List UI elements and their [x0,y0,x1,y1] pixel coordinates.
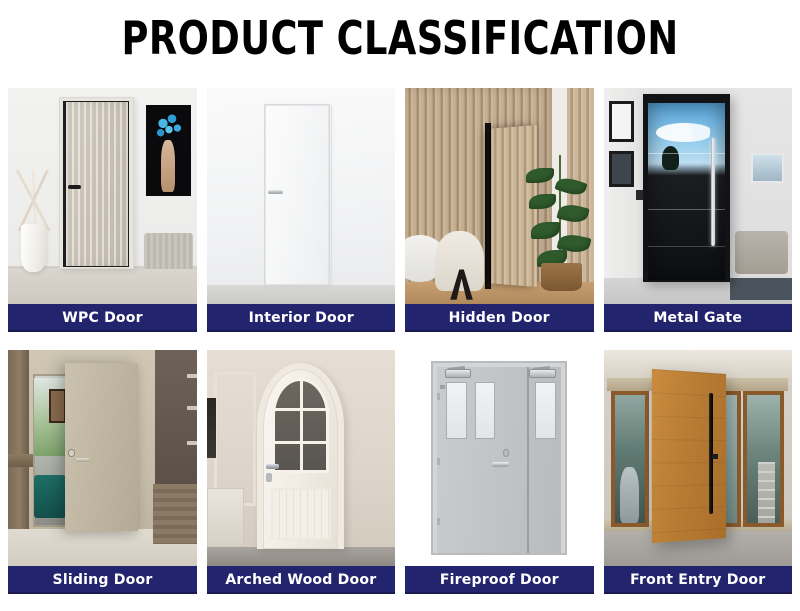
category-image-hidden-door [405,88,594,304]
area-rug [730,278,792,300]
shelf [187,406,196,410]
plant-basket [541,263,582,291]
category-label-text: Sliding Door [52,572,152,588]
category-label-arched-wood-door[interactable]: Arched Wood Door [207,566,396,594]
white-vase [21,224,46,272]
category-card-sliding-door[interactable]: Sliding Door [8,350,197,594]
person-silhouette [620,467,639,523]
category-image-interior-door [207,88,396,304]
tree-reflection [662,146,679,170]
vanity-cabinet [207,488,245,546]
floor [207,285,396,304]
framed-art-top-left [609,101,634,142]
category-image-arched-wood-door [207,350,396,566]
category-label-text: Arched Wood Door [225,572,376,588]
shelf [187,374,196,378]
mirror [207,398,216,458]
category-label-text: Metal Gate [653,310,742,326]
framed-art-right [751,153,785,183]
vision-panel [446,382,467,438]
category-image-sliding-door [8,350,197,566]
door-handle [68,185,81,188]
door-handle [266,464,279,469]
door-closer [529,369,555,378]
category-label-fireproof-door[interactable]: Fireproof Door [405,566,594,594]
sky-reflection-cloud [656,123,713,142]
bench [144,233,193,270]
category-label-text: Interior Door [248,310,353,326]
category-label-text: Front Entry Door [630,572,765,588]
category-label-text: Hidden Door [449,310,550,326]
interior-door-leaf [265,105,329,284]
category-label-metal-gate[interactable]: Metal Gate [604,304,793,332]
floor [8,269,197,304]
category-card-front-entry-door[interactable]: Front Entry Door [604,350,793,594]
category-label-text: WPC Door [62,310,143,326]
hinge [437,518,440,525]
beadboard-panel [271,488,331,540]
shelving-unit [155,350,196,484]
chrome-pull-handle [711,138,716,246]
window-mullion-vertical [300,378,303,473]
category-image-front-entry-door [604,350,793,566]
hinge [437,393,440,400]
art-flowers [154,111,184,142]
window-mullion-horizontal [272,408,329,411]
teal-sofa [34,475,66,518]
art-figure [161,140,175,193]
sliding-door-leaf [65,363,139,531]
sofa [735,231,788,274]
wall-art-panel [146,105,191,196]
vision-panel [475,382,496,438]
door-escutcheon [266,473,272,482]
product-category-grid: WPC Door Interior Door [8,88,792,594]
category-card-arched-wood-door[interactable]: Arched Wood Door [207,350,396,594]
category-label-sliding-door[interactable]: Sliding Door [8,566,197,594]
window-mullion-horizontal [272,441,329,444]
door-pull [76,458,89,462]
cylinder-lock [503,449,509,456]
vision-panel [535,382,556,438]
wood-cabinet [153,484,196,544]
page-title: PRODUCT CLASSIFICATION [80,12,720,64]
dried-branches [16,170,54,230]
lever-handle [492,462,509,467]
category-label-interior-door[interactable]: Interior Door [207,304,396,332]
hidden-door-gap [485,123,491,289]
door-lock [712,454,718,460]
category-image-metal-gate [604,88,793,304]
wpc-door-leaf [66,102,128,266]
category-image-fireproof-door [405,350,594,566]
category-label-front-entry-door[interactable]: Front Entry Door [604,566,793,594]
product-classification-page: PRODUCT CLASSIFICATION WPC [0,0,800,611]
fire-rating-plate [440,385,445,390]
category-card-metal-gate[interactable]: Metal Gate [604,88,793,332]
category-label-hidden-door[interactable]: Hidden Door [405,304,594,332]
category-card-hidden-door[interactable]: Hidden Door [405,88,594,332]
door-closer [445,369,471,378]
hinge [437,458,440,465]
wood-beam-cross [8,454,33,467]
ladder [758,462,775,522]
wall-moulding [214,372,255,506]
framed-art-bottom-left [609,151,634,188]
wood-beam [8,350,29,529]
floor [207,547,396,566]
category-card-interior-door[interactable]: Interior Door [207,88,396,332]
wall-switch [636,190,644,201]
shelf [187,441,196,445]
category-card-fireproof-door[interactable]: Fireproof Door [405,350,594,594]
door-seam [331,105,332,284]
door-meeting-stile [527,367,529,553]
category-image-wpc-door [8,88,197,304]
door-seam [648,246,725,248]
door-lock [68,449,74,456]
category-label-text: Fireproof Door [440,572,559,588]
category-label-wpc-door[interactable]: WPC Door [8,304,197,332]
category-card-wpc-door[interactable]: WPC Door [8,88,197,332]
door-handle [268,190,283,195]
